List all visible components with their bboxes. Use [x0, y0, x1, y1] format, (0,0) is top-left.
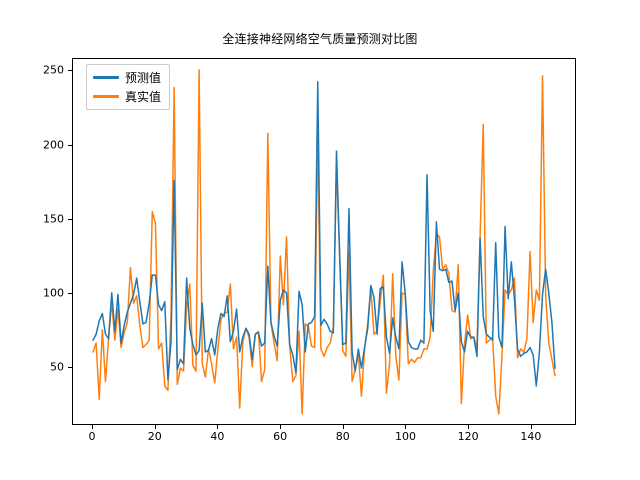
x-tick-mark: [155, 425, 156, 429]
legend-label-predicted: 预测值: [125, 72, 161, 84]
x-tick-mark: [468, 425, 469, 429]
series-line-actual: [93, 70, 555, 414]
x-tick-mark: [280, 425, 281, 429]
plot-area: [72, 58, 576, 425]
legend-item-actual[interactable]: 真实值: [93, 89, 161, 104]
x-tick-label: 100: [395, 430, 416, 443]
series-canvas: [73, 59, 575, 424]
x-tick-label: 120: [458, 430, 479, 443]
x-tick-mark: [531, 425, 532, 429]
x-tick-label: 60: [273, 430, 287, 443]
x-tick-label: 0: [89, 430, 96, 443]
x-tick-label: 20: [148, 430, 162, 443]
x-tick-label: 40: [210, 430, 224, 443]
y-tick-mark: [68, 145, 72, 146]
y-tick-mark: [68, 293, 72, 294]
matplotlib-figure: 全连接神经网络空气质量预测对比图 50100150200250 02040608…: [0, 0, 640, 480]
x-tick-mark: [343, 425, 344, 429]
x-tick-mark: [217, 425, 218, 429]
y-tick-mark: [68, 70, 72, 71]
x-tick-mark: [405, 425, 406, 429]
legend-item-predicted[interactable]: 预测值: [93, 70, 161, 85]
y-tick-mark: [68, 367, 72, 368]
x-tick-mark: [92, 425, 93, 429]
legend-label-actual: 真实值: [125, 91, 161, 103]
x-tick-label: 140: [520, 430, 541, 443]
line-swatch-orange-icon: [93, 95, 119, 97]
line-swatch-blue-icon: [93, 76, 119, 78]
x-tick-label: 80: [336, 430, 350, 443]
y-tick-mark: [68, 219, 72, 220]
legend: 预测值 真实值: [86, 64, 170, 110]
